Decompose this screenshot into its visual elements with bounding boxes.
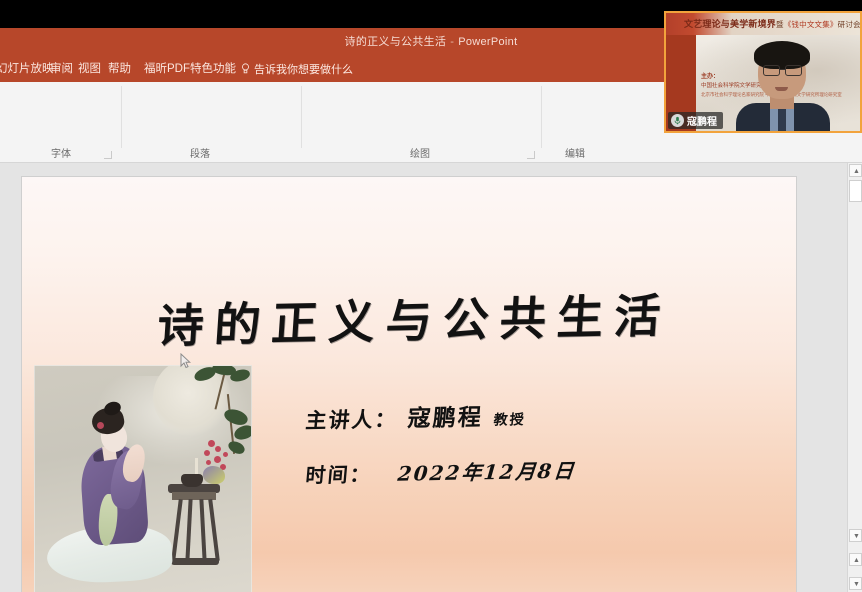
group-label-paragraph: 段落 xyxy=(140,145,260,160)
speaker-label: 主讲人： xyxy=(305,406,399,433)
next-slide-button[interactable]: ▼ xyxy=(849,577,862,590)
video-host-label: 主办： xyxy=(701,71,719,80)
video-frame: 文艺理论与美学新境界暨《钱中文文集》研讨会 主办： 中国社会科学院文学研究所 北… xyxy=(666,13,860,131)
speaker-rank: 教授 xyxy=(493,412,526,429)
lightbulb-icon xyxy=(241,63,250,74)
tab-features[interactable]: 特色功能 xyxy=(190,60,236,76)
video-person-tie xyxy=(778,107,786,131)
tab-help[interactable]: 帮助 xyxy=(108,60,131,76)
tab-slideshow[interactable]: 幻灯片放映 xyxy=(0,60,54,76)
slide-surface[interactable]: 诗的正义与公共生活 主讲人：寇鹏程教授 时间：2022年12月8日 xyxy=(22,177,796,592)
previous-slide-icon: ▲ xyxy=(853,557,860,564)
painting-hair-flower xyxy=(97,422,104,429)
painting-censer xyxy=(181,474,203,487)
video-participant-name: 寇鹏程 xyxy=(687,113,717,128)
painting-vase xyxy=(203,466,225,484)
slide-speaker-line[interactable]: 主讲人：寇鹏程教授 xyxy=(304,397,527,435)
screen: 诗的正义与公共生活-PowerPoint 幻灯片放映 审阅 视图 帮助 福昕PD… xyxy=(0,0,862,592)
group-label-drawing: 绘图 xyxy=(380,145,460,160)
video-person-glasses-left xyxy=(763,65,780,76)
previous-slide-button[interactable]: ▲ xyxy=(849,553,862,566)
date-value: 2022年12月8日 xyxy=(397,459,577,486)
chevron-up-icon: ▲ xyxy=(853,168,860,175)
microphone-badge[interactable] xyxy=(671,114,684,127)
video-person-glasses-right xyxy=(785,65,802,76)
slide-date-line[interactable]: 时间：2022年12月8日 xyxy=(305,455,577,489)
group-label-editing: 编辑 xyxy=(540,145,610,160)
document-title: 诗的正义与公共生活 xyxy=(345,36,447,48)
next-slide-icon: ▼ xyxy=(853,581,860,588)
painting-table-leg xyxy=(208,499,220,561)
painting-table-base xyxy=(171,558,219,565)
scroll-up-button[interactable]: ▲ xyxy=(849,164,862,177)
video-person-glasses-bridge xyxy=(780,69,785,70)
video-nametag: 寇鹏程 xyxy=(668,112,723,129)
scrollbar-thumb[interactable] xyxy=(849,180,862,202)
tab-foxit-pdf[interactable]: 福昕PDF xyxy=(144,60,190,76)
banner-conjunction: 暨 xyxy=(776,20,784,29)
slide-canvas-area: 诗的正义与公共生活 主讲人：寇鹏程教授 时间：2022年12月8日 xyxy=(0,163,862,592)
painting-table-leg xyxy=(171,499,183,561)
drawing-dialog-launcher[interactable] xyxy=(527,151,535,159)
painting-table-leg xyxy=(185,499,192,561)
scroll-down-button[interactable]: ▼ xyxy=(849,529,862,542)
banner-main-title: 文艺理论与美学新境界 xyxy=(684,19,776,29)
chevron-down-icon: ▼ xyxy=(853,533,860,540)
date-label: 时间： xyxy=(305,462,373,487)
banner-tail: 研讨会 xyxy=(838,20,860,29)
video-person-hair xyxy=(754,41,810,69)
video-host-org: 中国社会科学院文学研究所 xyxy=(701,81,767,89)
font-dialog-launcher[interactable] xyxy=(104,151,112,159)
app-name: PowerPoint xyxy=(458,36,517,48)
speaker-name: 寇鹏程 xyxy=(407,404,484,432)
slide-title-text[interactable]: 诗的正义与公共生活 xyxy=(22,277,796,359)
tell-me-input[interactable]: 告诉我你想要做什么 xyxy=(254,61,353,77)
vertical-scrollbar[interactable]: ▲ ▼ ▲ ▼ xyxy=(847,163,862,592)
slide-painting-image[interactable] xyxy=(34,365,252,592)
video-person-mouth xyxy=(775,87,788,91)
video-overlay[interactable]: 文艺理论与美学新境界暨《钱中文文集》研讨会 主办： 中国社会科学院文学研究所 北… xyxy=(664,11,862,133)
painting-table-leg xyxy=(199,499,206,561)
title-separator: - xyxy=(450,36,454,48)
mouse-pointer xyxy=(180,353,191,369)
painting-branch xyxy=(190,365,252,484)
tab-view[interactable]: 视图 xyxy=(78,60,101,76)
group-label-font: 字体 xyxy=(6,145,116,160)
video-banner-text: 文艺理论与美学新境界暨《钱中文文集》研讨会 xyxy=(684,17,860,30)
tab-review[interactable]: 审阅 xyxy=(50,60,73,76)
banner-book-title: 《钱中文文集》 xyxy=(784,20,838,29)
microphone-icon xyxy=(673,116,682,125)
